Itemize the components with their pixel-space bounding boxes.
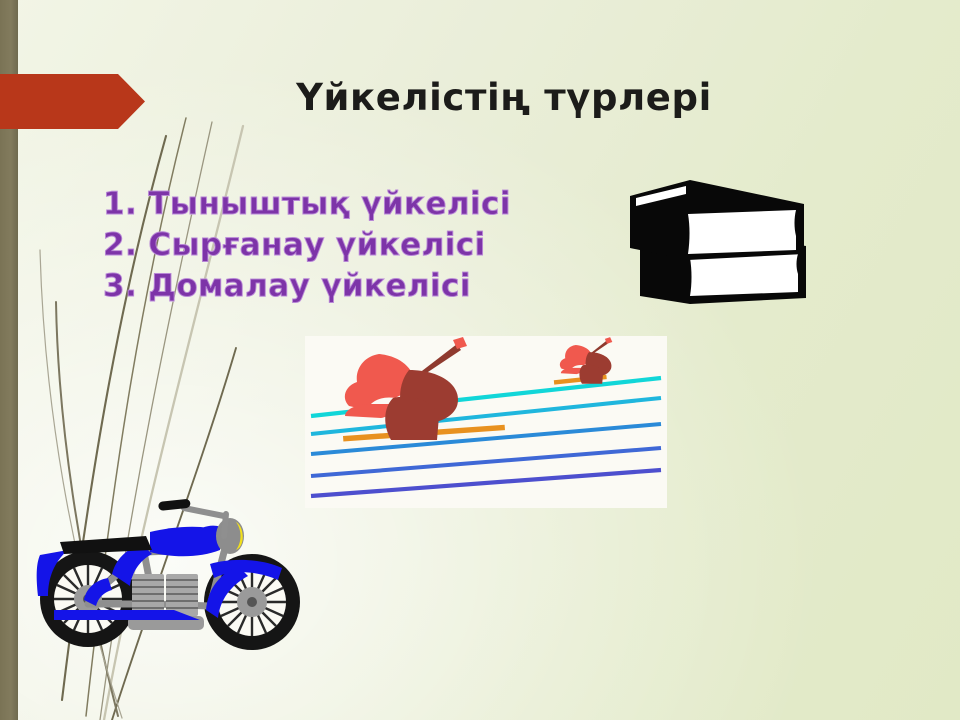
book-top bbox=[630, 180, 804, 260]
friction-types-list: 1. Тыныштық үйкелісі 2. Сырғанау үйкеліс… bbox=[103, 184, 511, 307]
motorcycle-illustration bbox=[24, 492, 316, 657]
page-title: Үйкелістің түрлері bbox=[0, 76, 960, 119]
headlight bbox=[216, 518, 244, 554]
engine bbox=[128, 574, 204, 630]
list-item: 1. Тыныштық үйкелісі bbox=[103, 184, 511, 225]
list-item: 2. Сырғанау үйкелісі bbox=[103, 225, 511, 266]
skiers-illustration bbox=[305, 336, 667, 508]
list-item: 3. Домалау үйкелісі bbox=[103, 266, 511, 307]
books-icon bbox=[608, 168, 824, 320]
slide-canvas: Үйкелістің түрлері 1. Тыныштық үйкелісі … bbox=[0, 0, 960, 720]
